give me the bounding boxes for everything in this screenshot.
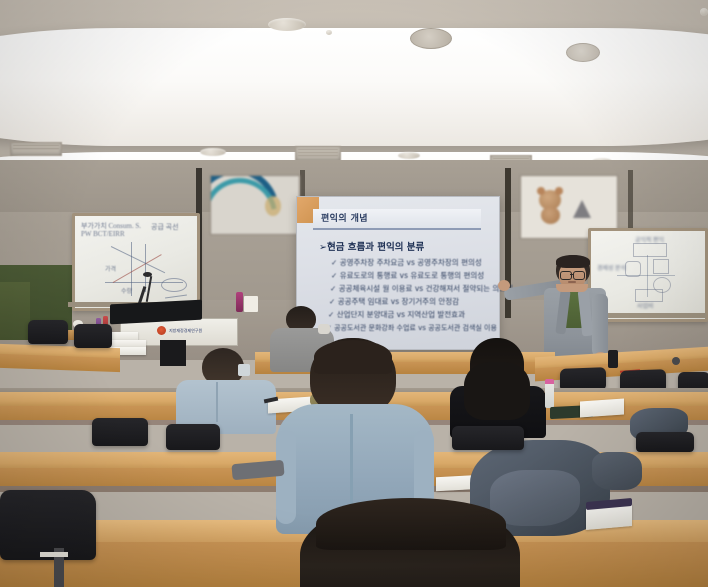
chair-label: [40, 552, 68, 557]
tissue-box: [244, 296, 258, 312]
chair-foreground: [0, 490, 96, 560]
desk-left-upper-front: [0, 354, 120, 372]
chair: [452, 426, 524, 450]
attendee-foreground-hair: [316, 498, 506, 550]
presenter-mouth: [568, 281, 576, 283]
air-vent-icon: [10, 142, 62, 156]
slide-title-bar: 편익의 개념: [313, 209, 481, 230]
downlight-icon: [268, 18, 306, 31]
presenter-arm-right: [592, 294, 608, 356]
bullet-text: 공영주차장 주차요금 vs 공영주차장의 편의성: [340, 258, 482, 267]
wall-graphic-left: [210, 175, 300, 235]
bottle-cap: [545, 379, 554, 384]
presenter-glasses-right: [573, 271, 585, 280]
air-vent-icon: [295, 146, 341, 161]
presenter-glasses-left: [560, 271, 572, 280]
slide-bullet: ✓ 유료도로의 통행료 vs 유료도로 통행의 편의성: [331, 270, 484, 281]
ceiling-speaker-icon: [566, 43, 600, 62]
presenter-hand: [498, 280, 510, 291]
attendee-mask: [238, 364, 250, 376]
downlight-icon: [700, 8, 708, 16]
chair: [166, 424, 220, 450]
whiteboard-note: 공급 곡선: [151, 222, 179, 232]
podium-organization-label: 지방재정경제연구원: [169, 328, 202, 334]
whiteboard-note: 사업비: [637, 301, 654, 310]
chair: [92, 418, 148, 446]
thermos: [608, 350, 618, 368]
chair: [74, 324, 112, 348]
slide-bullet: ✓ 공공체육시설 월 이용료 vs 건강해져서 절약되는 의료비: [330, 283, 513, 294]
attendee-shirt-placket: [216, 382, 218, 422]
wall-panel-green-lower: [0, 282, 30, 340]
bullet-text: 공공도서관 문화강좌 수업료 vs 공공도서관 검색실 이용: [334, 324, 497, 332]
open-notebook: [580, 398, 624, 417]
attendee-hair: [314, 340, 392, 374]
slide-bullet: ✓ 공공주택 임대료 vs 장기거주의 안정감: [329, 296, 459, 307]
slide-bullet: ✓ 산업단지 분양대금 vs 지역산업 발전효과: [328, 309, 465, 320]
small-object: [672, 357, 680, 365]
microphone-icon: [143, 272, 152, 277]
attendee-mask: [318, 324, 330, 334]
water-bottle: [236, 292, 243, 312]
ceiling-light-band-1: [0, 28, 708, 146]
attendee-sleeve: [276, 430, 296, 524]
slide-title: 편익의 개념: [321, 211, 368, 224]
attendee-black-top: [448, 338, 552, 438]
slide-bullet: ✓ 공공도서관 문화강좌 수업료 vs 공공도서관 검색실 이용: [326, 323, 497, 333]
organization-emblem-icon: [157, 326, 166, 335]
downlight-icon: [326, 30, 332, 35]
bullet-marker: ✓: [329, 297, 335, 306]
slide-bullet: ✓ 공영주차장 주차요금 vs 공영주차장의 편의성: [331, 257, 482, 268]
jacket-sleeve: [592, 452, 642, 490]
presenter-hair-top: [556, 255, 590, 268]
downlight-icon: [200, 148, 226, 156]
bullet-marker: ✓: [331, 271, 337, 280]
bullet-text: 공공체육시설 월 이용료 vs 건강해져서 절약되는 의료비: [339, 284, 513, 293]
bullet-marker: ✓: [331, 258, 337, 267]
presenter-neck: [556, 284, 588, 292]
ceiling-speaker-icon: [410, 28, 452, 49]
whiteboard-left: 부가가치 Consum. S. PW BCT/EIRR 공급 곡선 가격 수량: [72, 213, 200, 311]
lecture-hall-photo: 부가가치 Consum. S. PW BCT/EIRR 공급 곡선 가격 수량 …: [0, 0, 708, 587]
bullet-text: 산업단지 분양대금 vs 지역산업 발전효과: [337, 310, 465, 319]
chair: [28, 320, 68, 344]
bullet-text: 공공주택 임대료 vs 장기거주의 안정감: [338, 297, 459, 306]
presenter-glasses-bridge: [570, 274, 573, 275]
whiteboard-note: PW BCT/EIRR: [81, 230, 125, 238]
bullet-marker: ✓: [330, 284, 336, 293]
slide-heading-marker: ➢: [319, 242, 327, 253]
bullet-text: 유료도로의 통행료 vs 유료도로 통행의 편의성: [340, 271, 484, 280]
water-bottle: [545, 382, 554, 408]
slide-heading: ➢현금 흐름과 편익의 분류: [319, 239, 424, 253]
attendee-long-hair: [464, 362, 530, 420]
downlight-icon: [398, 152, 420, 159]
chair: [636, 432, 694, 452]
slide-heading-text: 현금 흐름과 편익의 분류: [327, 242, 424, 253]
